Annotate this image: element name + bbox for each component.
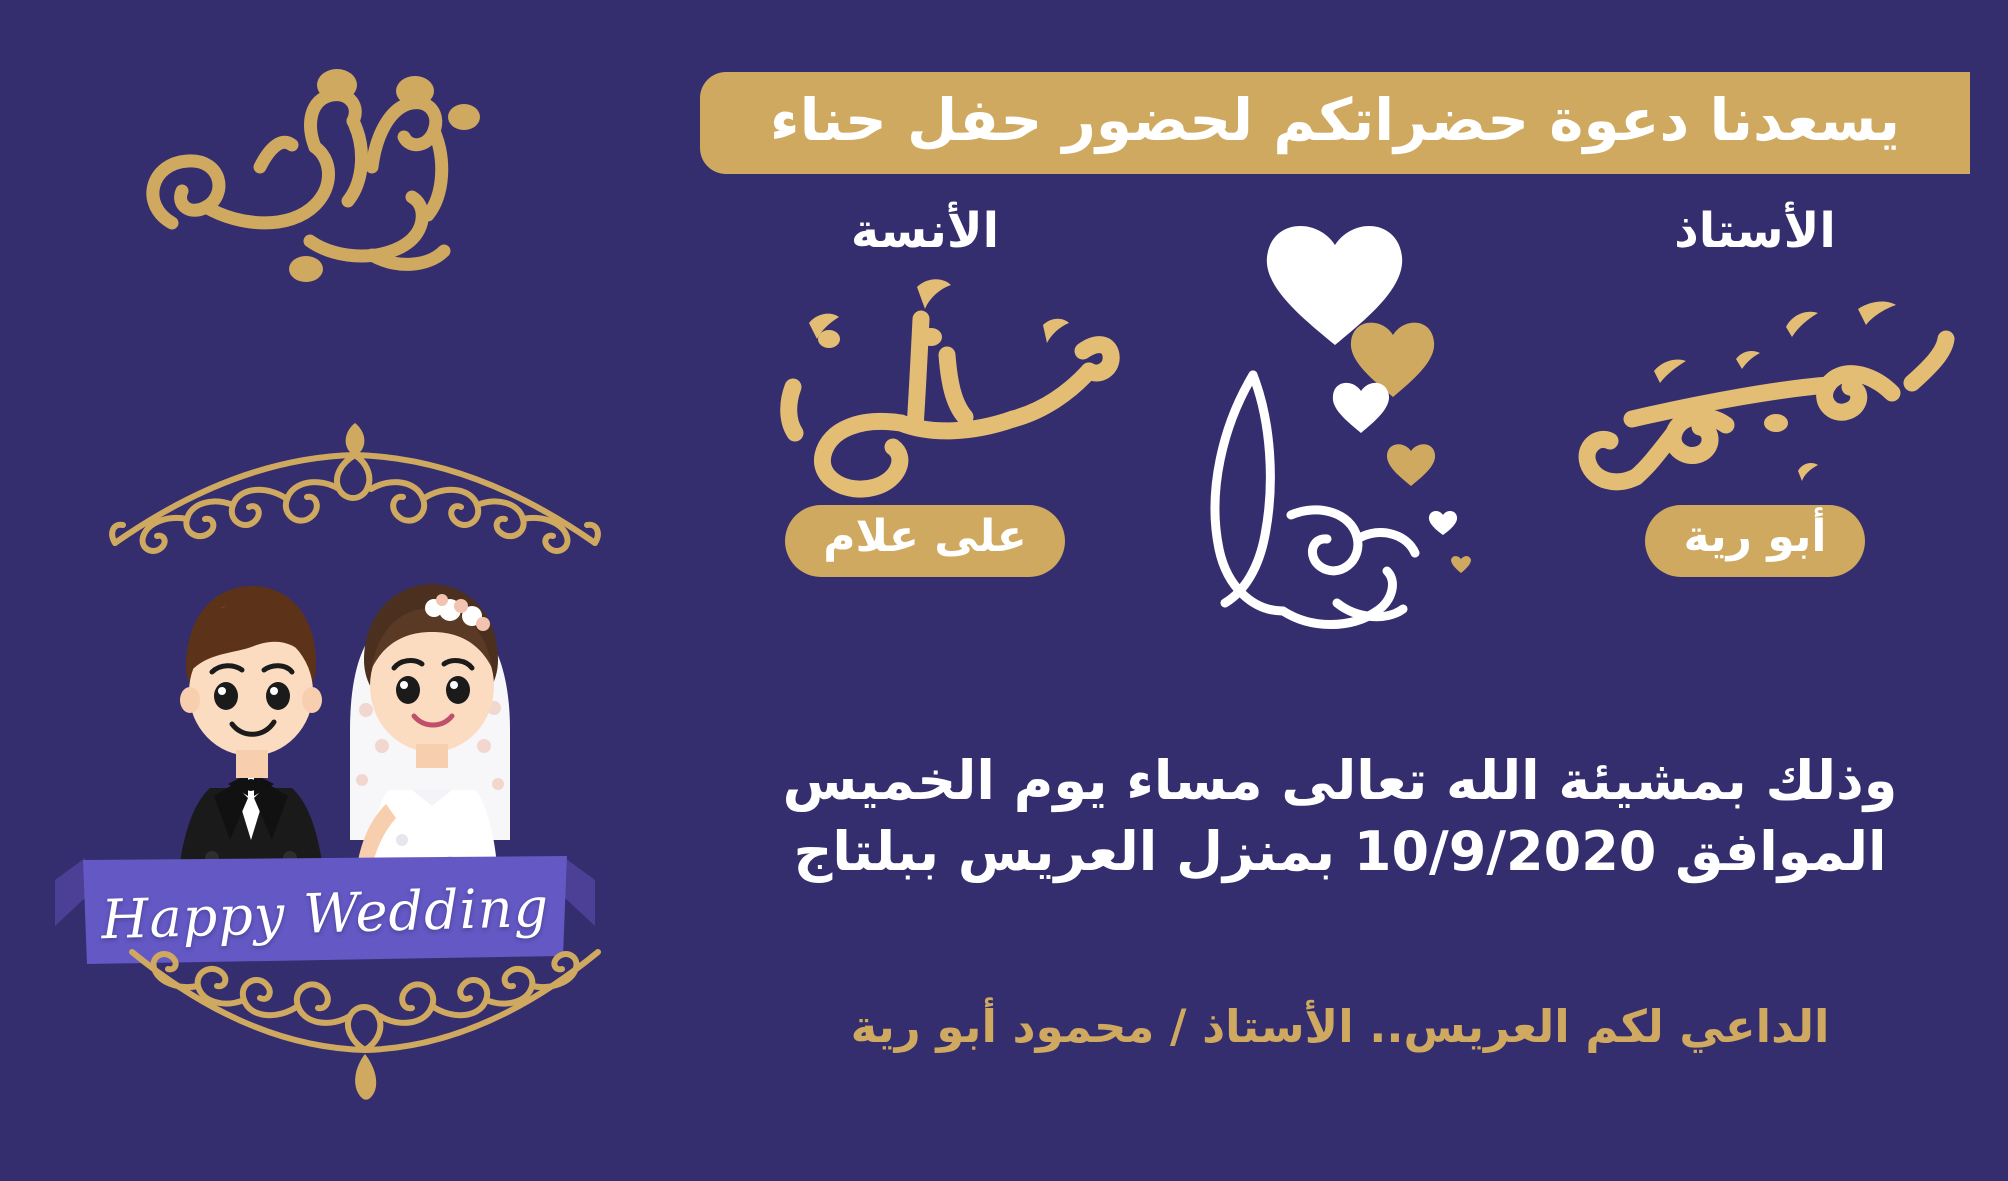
wedding-invitation-calligraphy-icon	[110, 55, 490, 285]
bottom-flourish-icon	[120, 930, 610, 1145]
details-line-2: الموافق 10/9/2020 بمنزل العريس ببلتاج	[700, 816, 1980, 887]
groom-block: الأستاذ	[1520, 205, 1990, 577]
ali-calligraphy-hearts-icon	[1125, 215, 1555, 665]
groom-name-calligraphy	[1520, 275, 1990, 505]
bride-family-badge: على علام	[785, 505, 1065, 577]
footer-host-line: الداعي لكم العريس.. الأستاذ / محمود أبو …	[700, 1000, 1980, 1054]
bride-title: الأنسة	[690, 205, 1160, 275]
event-details: وذلك بمشيئة الله تعالى مساء يوم الخميس ا…	[700, 745, 1980, 888]
groom-family-badge: أبو رية	[1645, 505, 1864, 577]
header-banner-text: يسعدنا دعوة حضراتكم لحضور حفل حناء	[770, 91, 1900, 155]
details-line-1: وذلك بمشيئة الله تعالى مساء يوم الخميس	[700, 745, 1980, 816]
invitation-card: Happy Wedding	[0, 0, 2008, 1181]
names-row: الأستاذ	[690, 205, 1990, 675]
decor-column: Happy Wedding	[0, 0, 660, 1181]
bride-name-calligraphy	[690, 275, 1160, 505]
groom-title: الأستاذ	[1520, 205, 1990, 275]
bride-block: الأنسة	[690, 205, 1160, 577]
header-banner: يسعدنا دعوة حضراتكم لحضور حفل حناء	[700, 72, 1970, 174]
